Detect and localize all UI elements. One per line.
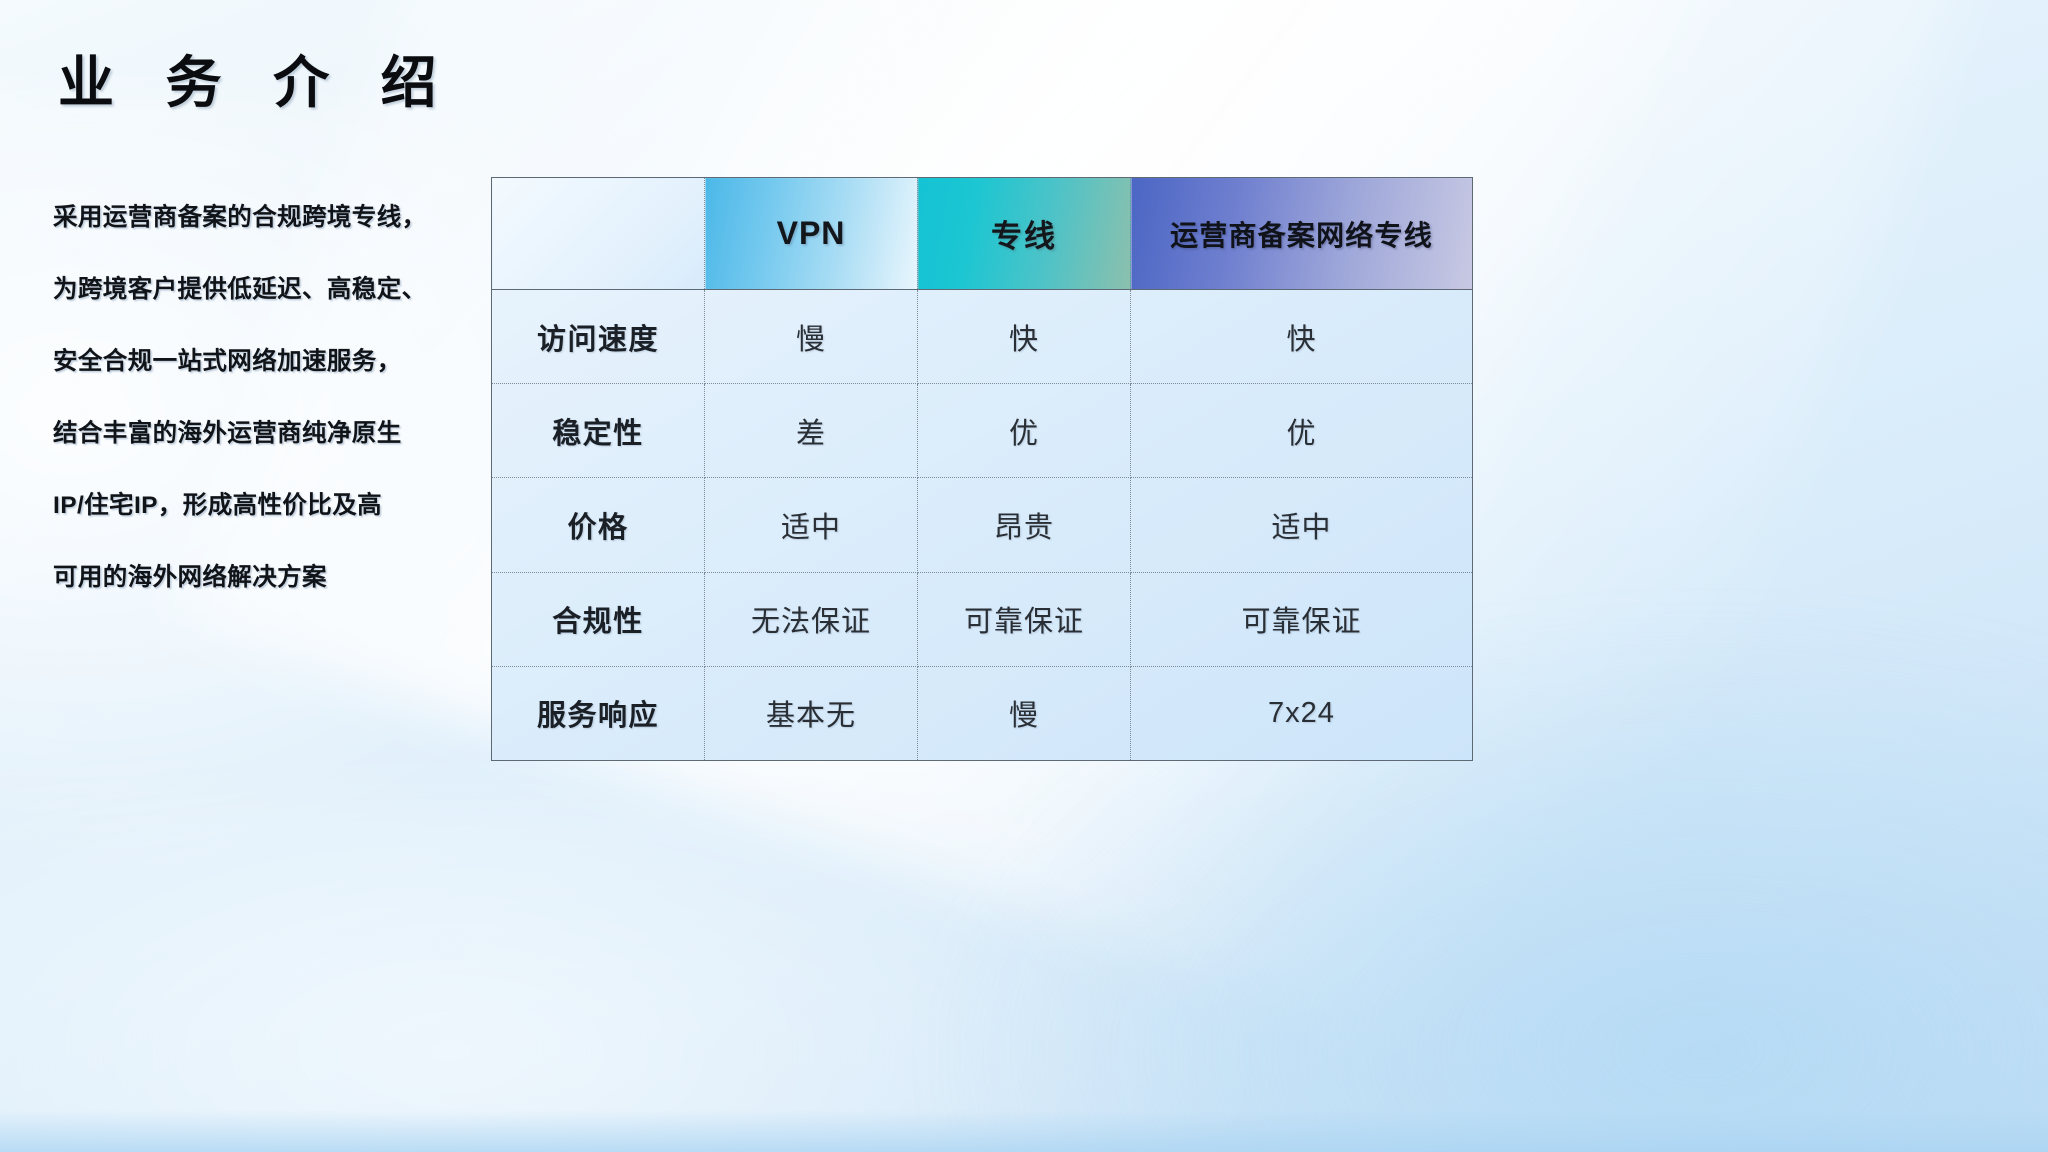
table-header-row: VPN 专线 运营商备案网络专线 (492, 178, 1473, 290)
cell-line-stability: 优 (918, 384, 1131, 478)
description-line: 安全合规一站式网络加速服务， (53, 326, 473, 398)
table-body: 访问速度 慢 快 快 稳定性 差 优 优 价格 适中 昂贵 适中 合规性 无法保… (492, 290, 1473, 761)
table-row: 合规性 无法保证 可靠保证 可靠保证 (492, 572, 1473, 666)
description-line: 为跨境客户提供低延迟、高稳定、 (53, 254, 473, 326)
cell-line-compliance: 可靠保证 (918, 572, 1131, 666)
cell-isp-access-speed: 快 (1131, 290, 1473, 384)
table-header: VPN 专线 运营商备案网络专线 (492, 178, 1473, 290)
cell-vpn-stability: 差 (705, 384, 918, 478)
description-line: 采用运营商备案的合规跨境专线， (53, 182, 473, 254)
description-block: 采用运营商备案的合规跨境专线， 为跨境客户提供低延迟、高稳定、 安全合规一站式网… (53, 182, 473, 614)
column-header-isp-registered-line: 运营商备案网络专线 (1131, 178, 1473, 290)
row-label-compliance: 合规性 (492, 572, 705, 666)
description-line: 结合丰富的海外运营商纯净原生 (53, 398, 473, 470)
row-label-access-speed: 访问速度 (492, 290, 705, 384)
table-row: 服务响应 基本无 慢 7x24 (492, 666, 1473, 760)
table-row: 稳定性 差 优 优 (492, 384, 1473, 478)
cell-line-service-response: 慢 (918, 666, 1131, 760)
background-glow-bottom (0, 783, 1311, 1152)
column-header-dedicated-line: 专线 (918, 178, 1131, 290)
cell-vpn-access-speed: 慢 (705, 290, 918, 384)
row-label-service-response: 服务响应 (492, 666, 705, 760)
table-row: 访问速度 慢 快 快 (492, 290, 1473, 384)
cell-isp-service-response: 7x24 (1131, 666, 1473, 760)
cell-line-price: 昂贵 (918, 478, 1131, 572)
description-line: 可用的海外网络解决方案 (53, 542, 473, 614)
column-header-vpn: VPN (705, 178, 918, 290)
comparison-table: VPN 专线 运营商备案网络专线 访问速度 慢 快 快 稳定性 差 优 优 价格… (491, 177, 1473, 761)
cell-line-access-speed: 快 (918, 290, 1131, 384)
cell-vpn-compliance: 无法保证 (705, 572, 918, 666)
page-title: 业 务 介 绍 (58, 52, 455, 114)
row-label-stability: 稳定性 (492, 384, 705, 478)
description-line: IP/住宅IP，形成高性价比及高 (53, 470, 473, 542)
slide-canvas: 业 务 介 绍 采用运营商备案的合规跨境专线， 为跨境客户提供低延迟、高稳定、 … (0, 0, 2048, 1152)
cell-isp-price: 适中 (1131, 478, 1473, 572)
cell-vpn-price: 适中 (705, 478, 918, 572)
column-header-blank (492, 178, 705, 290)
row-label-price: 价格 (492, 478, 705, 572)
table-row: 价格 适中 昂贵 适中 (492, 478, 1473, 572)
cell-isp-stability: 优 (1131, 384, 1473, 478)
background-bottom-strip (0, 1110, 2048, 1152)
cell-vpn-service-response: 基本无 (705, 666, 918, 760)
cell-isp-compliance: 可靠保证 (1131, 572, 1473, 666)
